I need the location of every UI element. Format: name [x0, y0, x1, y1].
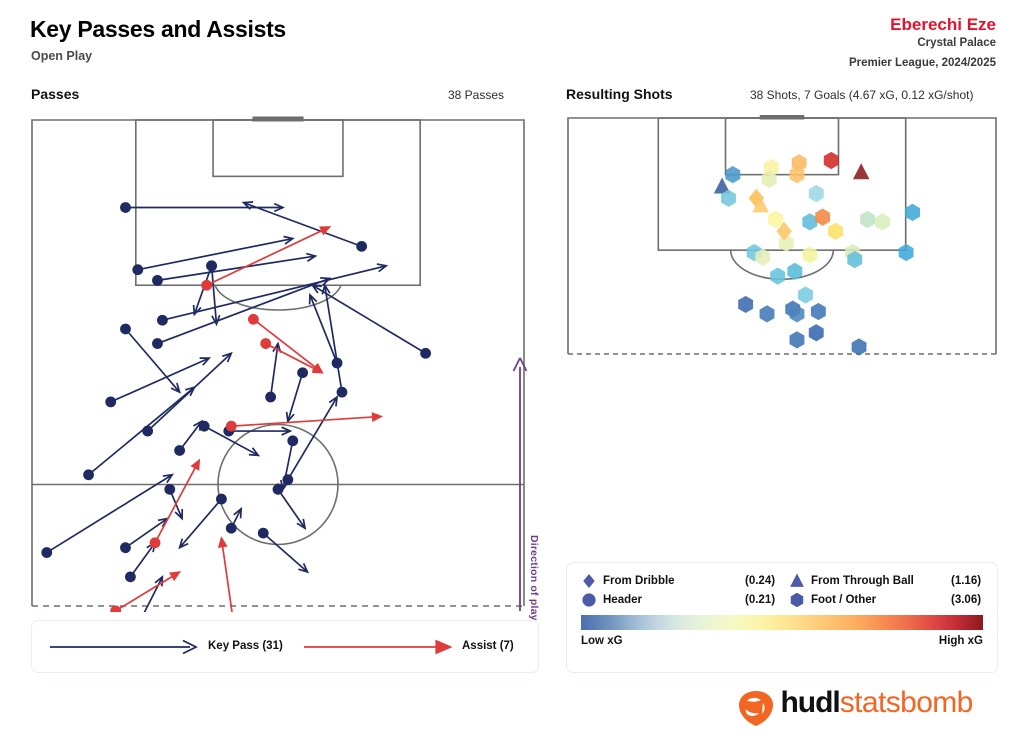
- logo-statsbomb-text: statsbomb: [840, 686, 973, 719]
- shot-marker: [770, 268, 785, 285]
- key-pass-legend-label: Key Pass (31): [208, 640, 283, 652]
- key-pass-legend-arrow: [50, 639, 198, 655]
- passes-panel-count: 38 Passes: [448, 88, 504, 102]
- shot-marker: [875, 213, 890, 230]
- hudl-statsbomb-logo: hudlstatsbomb: [736, 686, 973, 728]
- shot-legend-marker-1: [582, 593, 595, 606]
- shot-legend-value-0: (0.24): [745, 575, 775, 587]
- shot-legend-label-2: From Through Ball: [811, 575, 914, 587]
- direction-of-play-label: Direction of play: [528, 535, 540, 621]
- pass-arrow: [180, 494, 227, 548]
- shot-legend-label-0: From Dribble: [603, 575, 675, 587]
- shot-marker: [860, 211, 875, 228]
- pass-arrow: [273, 484, 305, 528]
- shots-panel-heading: Resulting Shots: [566, 86, 673, 102]
- player-name: Eberechi Eze: [890, 15, 996, 35]
- shot-legend-marker-0: [583, 574, 594, 588]
- pass-arrow: [260, 338, 322, 373]
- pass-arrow: [157, 264, 386, 326]
- pass-arrow: [152, 278, 330, 349]
- shot-marker: [809, 185, 824, 202]
- shot-legend-label-3: Foot / Other: [811, 594, 876, 606]
- shot-marker: [853, 163, 870, 179]
- player-competition: Premier League, 2024/2025: [849, 57, 996, 69]
- hudl-shield-icon: [736, 688, 776, 728]
- xg-colorbar: [581, 615, 983, 630]
- shot-legend-label-1: Header: [603, 594, 642, 606]
- shot-marker: [811, 303, 826, 320]
- shot-marker: [899, 244, 914, 261]
- shot-marker: [738, 296, 753, 313]
- logo-hudl-text: hudl: [780, 686, 839, 719]
- page-title: Key Passes and Assists: [30, 16, 286, 43]
- shot-legend-marker-3: [791, 593, 803, 607]
- passes-panel-heading: Passes: [31, 86, 79, 102]
- pass-arrow: [310, 295, 343, 368]
- pass-arrow: [258, 528, 308, 572]
- colorbar-low-label: Low xG: [581, 635, 623, 647]
- shot-legend-value-3: (3.06): [951, 594, 981, 606]
- shot-marker: [852, 338, 867, 355]
- pass-arrow: [120, 324, 180, 393]
- shot-map-pitch: [562, 112, 1002, 360]
- pass-arrow: [83, 387, 194, 480]
- pass-map-pitch: [24, 112, 532, 612]
- player-team: Crystal Palace: [917, 37, 996, 49]
- shot-marker: [768, 211, 783, 228]
- shot-legend: From Dribble (0.24) Header (0.21) From T…: [566, 562, 998, 673]
- page-subtitle: Open Play: [31, 49, 92, 63]
- shot-marker: [828, 223, 843, 240]
- pass-arrow: [164, 484, 182, 519]
- pass-arrow: [152, 254, 315, 286]
- shot-marker: [798, 286, 813, 303]
- pass-arrow: [287, 367, 308, 421]
- shot-marker: [802, 213, 817, 230]
- pass-arrow: [322, 285, 347, 397]
- shot-marker: [824, 152, 839, 169]
- pass-arrow: [150, 460, 200, 548]
- colorbar-high-label: High xG: [939, 635, 983, 647]
- figure-root: Key Passes and Assists Open Play Eberech…: [0, 0, 1024, 743]
- pass-arrow: [248, 314, 322, 373]
- shot-marker: [802, 246, 817, 263]
- shot-legend-value-2: (1.16): [951, 575, 981, 587]
- shot-legend-value-1: (0.21): [745, 594, 775, 606]
- shot-marker: [905, 204, 920, 221]
- shot-marker: [790, 331, 805, 348]
- pass-arrow: [265, 344, 280, 403]
- pass-arrow: [226, 413, 381, 431]
- shot-legend-marker-2: [790, 574, 804, 587]
- shots-panel-count: 38 Shots, 7 Goals (4.67 xG, 0.12 xG/shot…: [750, 88, 973, 102]
- pass-arrow: [219, 538, 254, 612]
- pass-arrow: [174, 421, 202, 456]
- shot-marker: [809, 324, 824, 341]
- pass-legend: Key Pass (31) Assist (7): [31, 620, 539, 673]
- shot-marker: [760, 305, 775, 322]
- shot-marker: [725, 166, 740, 183]
- shot-marker: [815, 209, 830, 226]
- assist-legend-label: Assist (7): [462, 640, 514, 652]
- pass-arrow: [142, 353, 231, 436]
- assist-legend-arrow: [304, 639, 452, 655]
- pass-arrow: [120, 519, 167, 554]
